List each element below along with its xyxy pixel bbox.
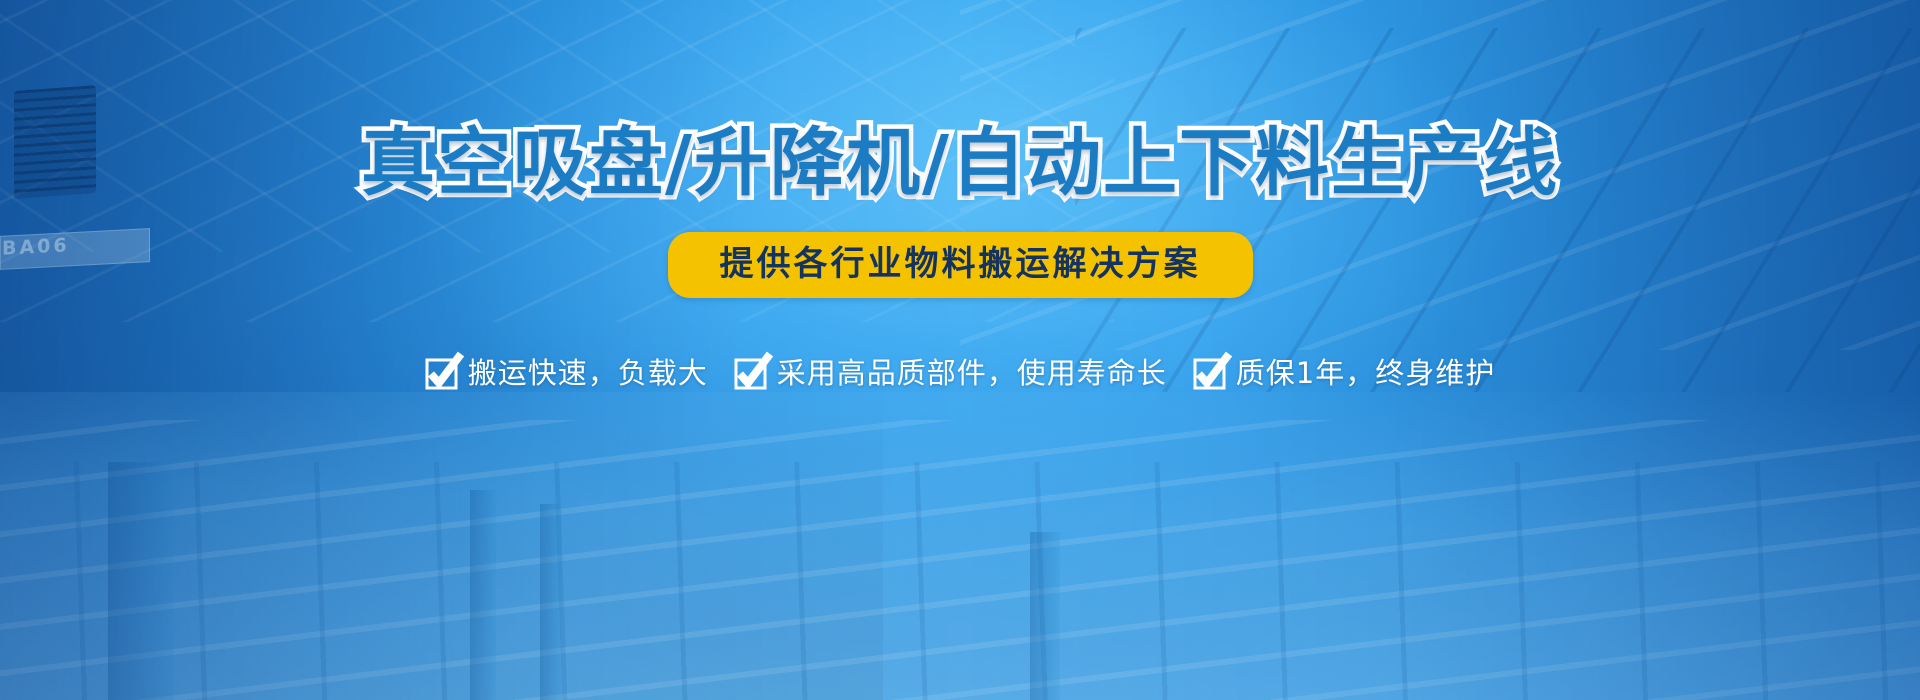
banner-headline: 真空吸盘/升降机/自动上下料生产线 — [361, 126, 1559, 200]
feature-label: 搬运快速，负载大 — [468, 359, 708, 388]
check-box-icon — [425, 356, 459, 390]
feature-list: 搬运快速，负载大 采用高品质部件，使用寿命长 — [425, 356, 1495, 390]
check-box-icon — [734, 356, 768, 390]
check-box-icon — [1193, 356, 1227, 390]
feature-item: 搬运快速，负载大 — [425, 356, 708, 390]
feature-item: 采用高品质部件，使用寿命长 — [734, 356, 1167, 390]
hero-banner: BA06 真空吸盘/升降机/自动上下料生产线 提供各行业物料搬运解决方案 搬运快… — [0, 0, 1920, 700]
feature-label: 质保1年，终身维护 — [1236, 359, 1495, 388]
banner-content: 真空吸盘/升降机/自动上下料生产线 提供各行业物料搬运解决方案 搬运快速，负载大 — [0, 0, 1920, 700]
banner-subtitle-badge: 提供各行业物料搬运解决方案 — [668, 232, 1253, 298]
feature-label: 采用高品质部件，使用寿命长 — [777, 359, 1167, 388]
feature-item: 质保1年，终身维护 — [1193, 356, 1495, 390]
